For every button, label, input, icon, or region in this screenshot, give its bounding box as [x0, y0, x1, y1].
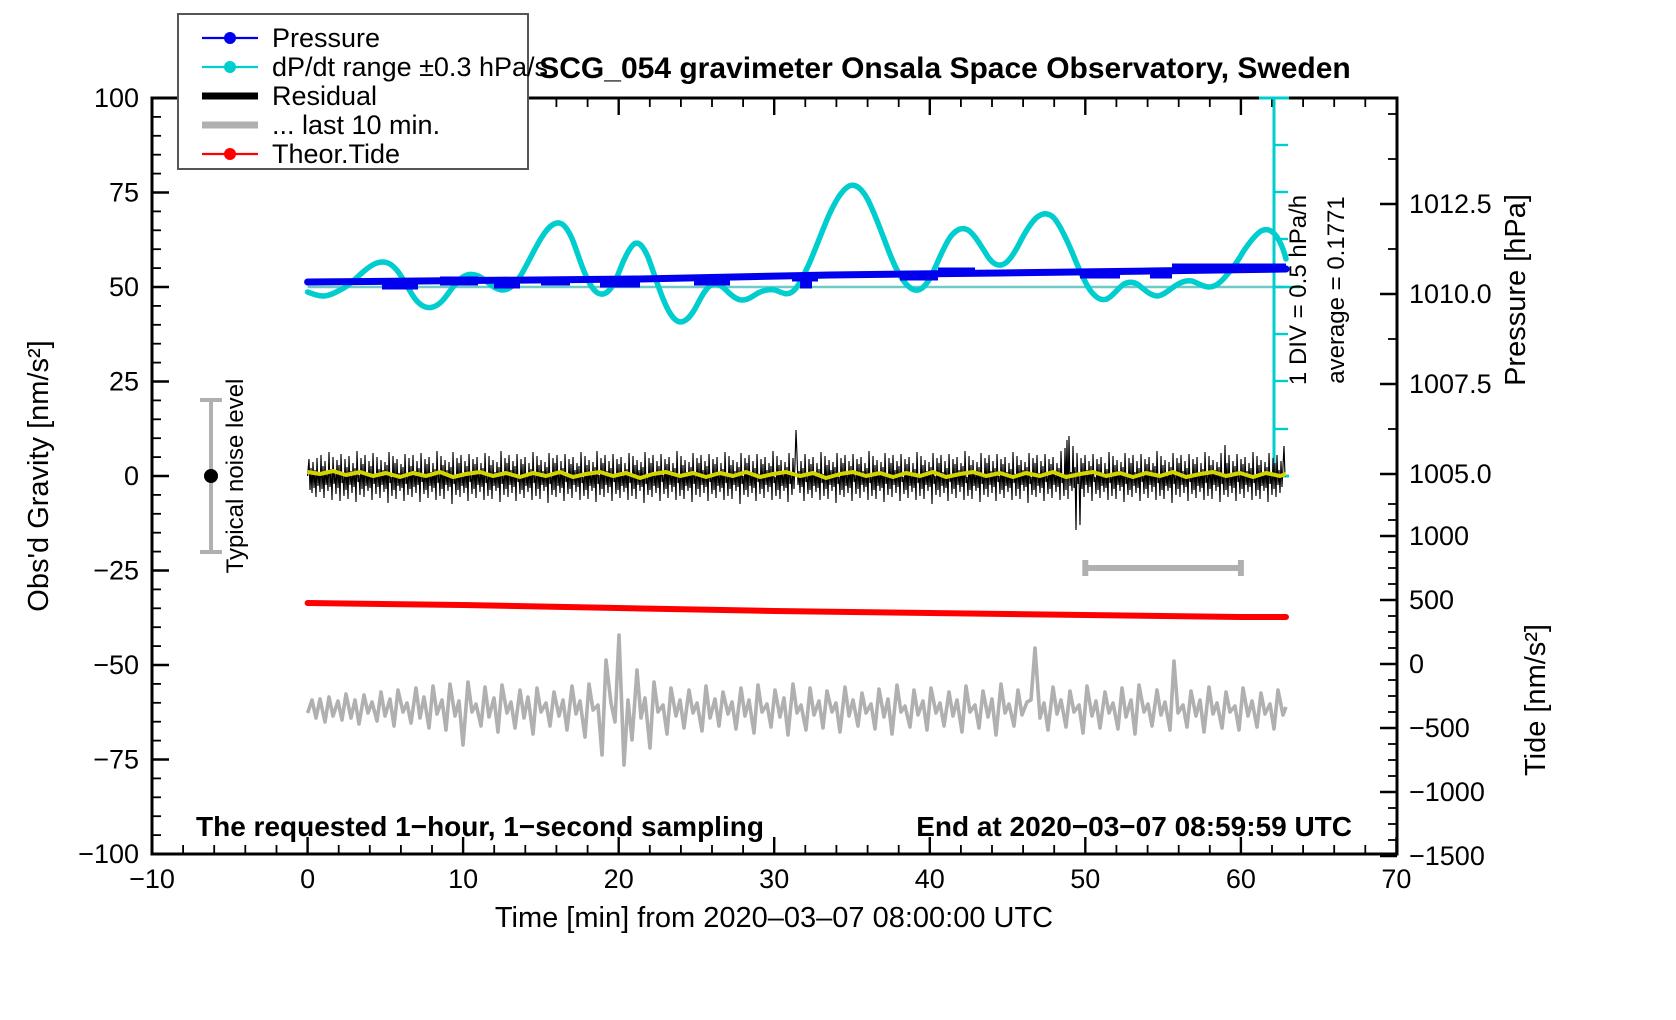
sampling-note: The requested 1−hour, 1−second sampling — [196, 811, 764, 842]
pressure-tick-label: 1005.0 — [1409, 459, 1492, 489]
y-tick-label: 25 — [109, 367, 139, 397]
y-left-axis-label: Obs'd Gravity [nm/s²] — [23, 340, 55, 611]
y-tick-label: −25 — [93, 556, 139, 586]
legend-label-dpdt: dP/dt range ±0.3 hPa/s — [272, 52, 548, 82]
x-tick-label: 60 — [1226, 864, 1256, 894]
dpdt-scale-annotation: 1 DIV = 0.5 hPa/h — [1285, 195, 1312, 385]
x-tick-label: 70 — [1381, 864, 1411, 894]
tide-tick-label: 0 — [1409, 649, 1424, 679]
legend-label-theortide: Theor.Tide — [272, 139, 400, 169]
tide-tick-label: −500 — [1409, 713, 1470, 743]
x-tick-label: 50 — [1070, 864, 1100, 894]
y-tick-label: 100 — [94, 83, 139, 113]
end-time-note: End at 2020−03−07 08:59:59 UTC — [916, 811, 1352, 842]
legend-marker-pressure — [224, 32, 236, 44]
y-right-tide-axis-label: Tide [nm/s²] — [1520, 624, 1552, 776]
dpdt-average-annotation: average = 0.1771 — [1323, 196, 1350, 384]
legend-marker-theortide — [224, 148, 236, 160]
pressure-tick-label: 1007.5 — [1409, 369, 1492, 399]
y-tick-label: 50 — [109, 272, 139, 302]
x-tick-label: 40 — [915, 864, 945, 894]
plot-svg: −10 0 10 20 30 40 50 60 70 Time [min] fr… — [0, 0, 1676, 1020]
legend-label-residual: Residual — [272, 81, 377, 111]
typical-noise-level-label: Typical noise level — [222, 379, 249, 574]
y-tick-label: 75 — [109, 178, 139, 208]
y-tick-label: −50 — [93, 650, 139, 680]
pressure-tick-label: 1010.0 — [1409, 279, 1492, 309]
x-tick-label: 0 — [300, 864, 315, 894]
x-tick-label: 10 — [448, 864, 478, 894]
tide-tick-label: 500 — [1409, 585, 1454, 615]
y-tick-label: 0 — [124, 461, 139, 491]
legend[interactable]: Pressure dP/dt range ±0.3 hPa/s Residual… — [178, 14, 548, 169]
y-right-pressure-axis-label: Pressure [hPa] — [1500, 194, 1532, 386]
tide-tick-label: −1000 — [1409, 777, 1485, 807]
x-tick-label: 20 — [604, 864, 634, 894]
legend-marker-dpdt — [224, 61, 236, 73]
figure-canvas: −10 0 10 20 30 40 50 60 70 Time [min] fr… — [0, 0, 1676, 1020]
page-title: SCG_054 gravimeter Onsala Space Observat… — [539, 52, 1351, 85]
tide-tick-label: 1000 — [1409, 521, 1469, 551]
tide-tick-label: −1500 — [1409, 841, 1485, 871]
y-tick-label: −100 — [78, 839, 139, 869]
legend-label-last10min: ... last 10 min. — [272, 110, 440, 140]
y-tick-label: −75 — [93, 745, 139, 775]
x-axis-label: Time [min] from 2020–03–07 08:00:00 UTC — [495, 902, 1053, 934]
pressure-tick-label: 1012.5 — [1409, 189, 1492, 219]
legend-label-pressure: Pressure — [272, 23, 380, 53]
x-tick-label: 30 — [759, 864, 789, 894]
